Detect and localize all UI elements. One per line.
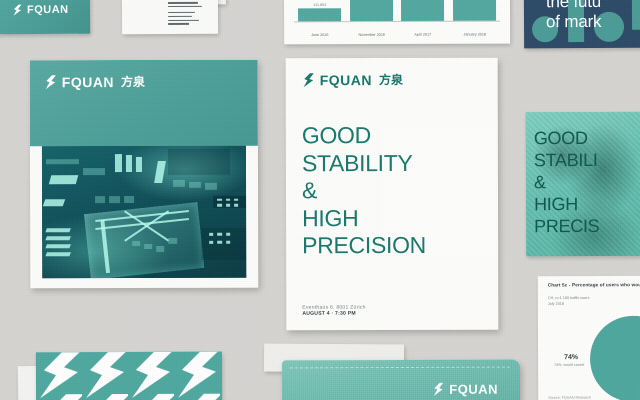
pie-chart-title: Chart 5c - Percentage of users who would… — [548, 282, 640, 288]
bar-category-label: April 2017 — [393, 33, 453, 37]
bar-item — [453, 0, 496, 21]
fquan-bolt-logo-icon — [44, 74, 58, 90]
pattern-card — [36, 352, 222, 400]
brochure-logo-chinese: 方泉 — [121, 76, 145, 88]
brochure-logo-lockup: FQUAN 方泉 — [44, 74, 145, 90]
pie-subtitle-line-2: July 2018 — [548, 302, 590, 308]
product-brochure: FQUAN 方泉 — [30, 60, 259, 289]
pie-chart-footnote: Source: FQUAN Research — [548, 396, 591, 400]
photo-card-headline-line-2: STABILI — [534, 150, 640, 172]
photo-card-headline-line-4: HIGH — [534, 194, 640, 216]
poster-headline-line-4: HIGH — [302, 205, 488, 233]
bar-series: 111,803241,049 — [294, 0, 500, 22]
fquan-bolt-logo-icon — [302, 72, 316, 88]
contact-business-card — [122, 0, 218, 34]
bar-chart-report-sheet: 111,803241,049 June 2016November 2016Apr… — [284, 0, 510, 44]
pie-chart-value-label: 74% — [564, 354, 578, 361]
poster-headline-line-2: STABILITY — [302, 149, 488, 177]
poster-logo-lockup: FQUAN 方泉 — [302, 72, 403, 88]
logo-lockup: FQUAN — [12, 4, 69, 16]
brochure-logo-wordmark: FQUAN — [62, 75, 114, 89]
duotone-photo-card: GOODSTABILI&HIGHPRECIS — [526, 112, 640, 256]
navy-card-line-2: of mark — [546, 12, 601, 32]
poster-datetime: AUGUST 4 · 7:30 PM — [302, 310, 365, 316]
teal-fabric-folder: FQUAN — [282, 360, 520, 400]
circuit-board-photo — [42, 146, 246, 279]
bar-value-label: 111,803 — [313, 3, 326, 7]
poster-footer: Eventhaus 6, 8001 Zürich AUGUST 4 · 7:30… — [302, 306, 344, 316]
bar-category-label: June 2016 — [290, 33, 350, 37]
folder-logo-lockup: FQUAN — [432, 382, 498, 397]
bar — [298, 8, 341, 21]
fquan-bolt-logo-icon — [432, 382, 445, 397]
photo-card-headline: GOODSTABILI&HIGHPRECIS — [534, 128, 640, 238]
contact-role — [168, 2, 202, 7]
bar-item — [401, 0, 444, 21]
circuit-board-image — [42, 146, 246, 279]
decor-bar-2 — [632, 0, 640, 30]
pie-chart-subtitle: CH, n=1 180 traffic users July 2018 — [548, 296, 590, 308]
photo-card-headline-line-1: GOOD — [534, 128, 640, 150]
contact-details — [168, 12, 199, 25]
main-event-poster: FQUAN 方泉 GOODSTABILITY&HIGHPRECISION Eve… — [286, 58, 499, 331]
branding-mockup-flatlay: FQUAN 111,803241,049 June 2016November 2… — [0, 0, 640, 400]
poster-logo-chinese: 方泉 — [379, 74, 403, 86]
bar — [453, 0, 496, 21]
pie-chart-report-sheet: Chart 5c - Percentage of users who would… — [538, 276, 640, 400]
pie-chart-slice — [590, 316, 640, 400]
bar-item: 241,049 — [350, 0, 393, 21]
photo-card-headline-line-5: PRECIS — [534, 216, 640, 238]
navy-card-line-1: the futu — [546, 0, 601, 12]
bar — [401, 0, 444, 21]
pie-chart-value-sublabel: 74%, would cancel — [554, 363, 584, 367]
poster-logo-wordmark: FQUAN — [320, 73, 372, 87]
poster-headline: GOODSTABILITY&HIGHPRECISION — [302, 122, 488, 260]
brochure-teal-band — [30, 60, 258, 147]
bolt-repeat-pattern — [36, 352, 222, 400]
navy-marketing-card: the futu of mark — [524, 0, 640, 48]
poster-headline-line-1: GOOD — [302, 122, 488, 150]
bar — [350, 0, 393, 21]
navy-card-headline: the futu of mark — [546, 0, 601, 32]
folder-logo-wordmark: FQUAN — [449, 383, 498, 396]
poster-headline-line-5: PRECISION — [302, 232, 488, 260]
logo-wordmark: FQUAN — [27, 4, 69, 15]
teal-business-card: FQUAN — [0, 0, 90, 34]
bar-chart-plot: 111,803241,049 — [294, 0, 500, 22]
photo-card-headline-line-3: & — [534, 172, 640, 194]
poster-headline-line-3: & — [302, 177, 488, 205]
bar-chart-x-axis: June 2016November 2016April 2017January … — [294, 33, 500, 37]
fquan-bolt-logo-icon — [12, 4, 23, 16]
bar-item: 111,803 — [298, 4, 341, 22]
bar-category-label: January 2018 — [445, 33, 505, 37]
